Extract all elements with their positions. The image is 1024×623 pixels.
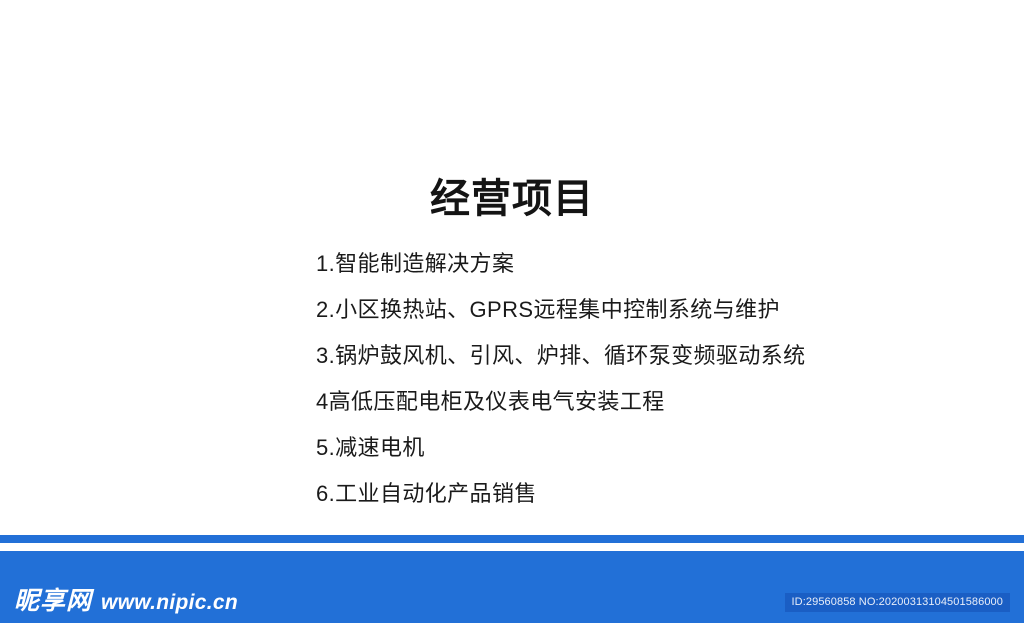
page-title: 经营项目: [0, 176, 1024, 222]
list-item: 3.锅炉鼓风机、引风、炉排、循环泵变频驱动系统: [316, 333, 956, 379]
watermark: 昵享网 www.nipic.cn: [14, 588, 238, 613]
list-item: 6.工业自动化产品销售: [316, 471, 956, 517]
list-item: 1.智能制造解决方案: [316, 241, 956, 287]
footer-bar: 昵享网 www.nipic.cn ID:29560858 NO:20200313…: [0, 551, 1024, 623]
list-item: 5.减速电机: [316, 425, 956, 471]
divider-stripe-upper: [0, 535, 1024, 543]
divider-gap: [0, 543, 1024, 551]
image-id-badge: ID:29560858 NO:20200313104501586000: [785, 593, 1010, 612]
business-items-list: 1.智能制造解决方案 2.小区换热站、GPRS远程集中控制系统与维护 3.锅炉鼓…: [316, 241, 956, 517]
list-item: 4高低压配电柜及仪表电气安装工程: [316, 379, 956, 425]
content-area: 经营项目 1.智能制造解决方案 2.小区换热站、GPRS远程集中控制系统与维护 …: [0, 0, 1024, 535]
list-item: 2.小区换热站、GPRS远程集中控制系统与维护: [316, 287, 956, 333]
watermark-brand-label: 昵享网: [14, 588, 92, 613]
poster-canvas: 经营项目 1.智能制造解决方案 2.小区换热站、GPRS远程集中控制系统与维护 …: [0, 0, 1024, 623]
watermark-url-label: www.nipic.cn: [101, 592, 238, 613]
